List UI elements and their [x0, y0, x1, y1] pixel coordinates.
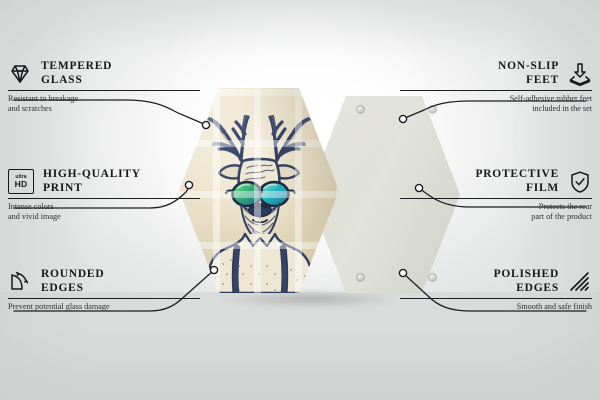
- feature-rule: [400, 298, 592, 299]
- diagonal-hatch-icon: [568, 270, 592, 294]
- feature-title: ROUNDED EDGES: [41, 268, 104, 295]
- shield-check-icon: [568, 170, 592, 194]
- ultra-hd-icon: ultra HD: [8, 169, 34, 194]
- feature-rule: [8, 198, 200, 199]
- feature-title: TEMPERED GLASS: [41, 60, 112, 87]
- front-panel-gloss: [179, 88, 339, 293]
- press-down-pad-icon: [568, 62, 592, 86]
- feature-description: Prevent potential glass damage: [8, 302, 200, 312]
- rounded-corner-icon: [8, 270, 32, 294]
- front-panel-printed-glass: [179, 88, 339, 293]
- feature-rule: [8, 298, 200, 299]
- feature-polished-edges: POLISHED EDGES Smooth and safe finish: [400, 268, 592, 312]
- feature-high-quality-print: ultra HD HIGH-QUALITY PRINT Intense colo…: [8, 168, 200, 222]
- feature-description: Self-adhesive rubber feet included in th…: [400, 94, 592, 114]
- feature-description: Intense colors and vivid image: [8, 202, 200, 222]
- feature-description: Protects the rear part of the product: [400, 202, 592, 222]
- feature-protective-film: PROTECTIVE FILM Protects the rear part o…: [400, 168, 592, 222]
- feature-title: PROTECTIVE FILM: [475, 168, 559, 195]
- feature-description: Resistant to breakage and scratches: [8, 94, 200, 114]
- rubber-foot: [357, 274, 364, 281]
- feature-header: PROTECTIVE FILM: [400, 168, 592, 195]
- feature-rule: [8, 90, 200, 91]
- feature-non-slip-feet: NON-SLIP FEET Self-adhesive rubber feet …: [400, 60, 592, 114]
- feature-rule: [400, 90, 592, 91]
- feature-header: ROUNDED EDGES: [8, 268, 200, 295]
- feature-description: Smooth and safe finish: [400, 302, 592, 312]
- feature-header: ultra HD HIGH-QUALITY PRINT: [8, 168, 200, 195]
- feature-rule: [400, 198, 592, 199]
- feature-title: HIGH-QUALITY PRINT: [43, 168, 141, 195]
- feature-header: POLISHED EDGES: [400, 268, 592, 295]
- diamond-icon: [8, 62, 32, 86]
- feature-header: TEMPERED GLASS: [8, 60, 200, 87]
- feature-title: POLISHED EDGES: [494, 268, 559, 295]
- feature-header: NON-SLIP FEET: [400, 60, 592, 87]
- feature-tempered-glass: TEMPERED GLASS Resistant to breakage and…: [8, 60, 200, 114]
- rubber-foot: [357, 106, 364, 113]
- feature-rounded-edges: ROUNDED EDGES Prevent potential glass da…: [8, 268, 200, 312]
- feature-title: NON-SLIP FEET: [498, 60, 559, 87]
- product-infographic: TEMPERED GLASS Resistant to breakage and…: [0, 0, 600, 400]
